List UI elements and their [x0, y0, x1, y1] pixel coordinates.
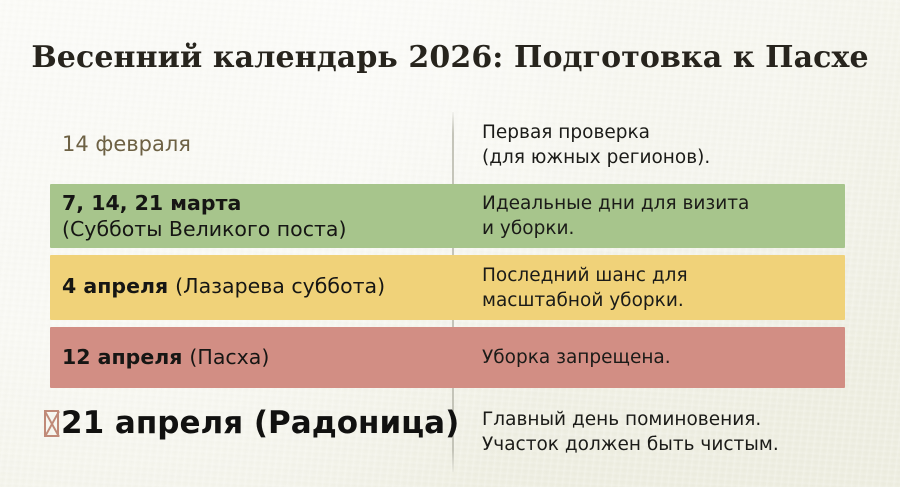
row-date-secondary: (Лазарева суббота)	[175, 274, 385, 298]
calendar-row: 14 февраля Первая проверка (для южных ре…	[0, 112, 900, 180]
row-note-cell: Главный день поминовения. Участок должен…	[482, 407, 882, 457]
calendar-row: 7, 14, 21 марта (Субботы Великого поста)…	[0, 184, 900, 248]
row-date-cell: 14 февраля	[62, 132, 448, 156]
row-date-cell: 21 апреля (Радоница)	[44, 405, 454, 441]
page-title: Весенний календарь 2026: Подготовка к Па…	[0, 40, 900, 75]
missing-glyph-icon	[44, 410, 59, 437]
calendar-row: 4 апреля(Лазарева суббота) Последний шан…	[0, 255, 900, 320]
row-date-primary: 14 февраля	[62, 132, 448, 156]
row-date-primary: 7, 14, 21 марта	[62, 190, 448, 216]
row-note-line: масштабной уборки.	[482, 288, 882, 313]
row-note-cell: Идеальные дни для визита и уборки.	[482, 191, 882, 241]
row-note-cell: Первая проверка (для южных регионов).	[482, 120, 882, 170]
row-date-cell: 4 апреля(Лазарева суббота)	[62, 273, 448, 299]
row-note-line: Последний шанс для	[482, 263, 882, 288]
row-date-cell: 12 апреля(Пасха)	[62, 344, 448, 370]
row-date-secondary: (Пасха)	[189, 345, 269, 369]
row-note-line: Уборка запрещена.	[482, 345, 882, 370]
row-note-cell: Последний шанс для масштабной уборки.	[482, 263, 882, 313]
row-date-cell: 7, 14, 21 марта (Субботы Великого поста)	[62, 190, 448, 242]
calendar-row: 12 апреля(Пасха) Уборка запрещена.	[0, 327, 900, 388]
row-note-line: Главный день поминовения.	[482, 407, 882, 432]
infographic-page: Весенний календарь 2026: Подготовка к Па…	[0, 0, 900, 487]
row-note-line: Идеальные дни для визита	[482, 191, 882, 216]
row-note-line: (для южных регионов).	[482, 145, 882, 170]
row-date-primary: 12 апреля	[62, 345, 182, 369]
row-note-cell: Уборка запрещена.	[482, 345, 882, 370]
row-note-line: Первая проверка	[482, 120, 882, 145]
calendar-row: 21 апреля (Радоница) Главный день помино…	[0, 395, 900, 475]
row-note-line: Участок должен быть чистым.	[482, 432, 882, 457]
row-date-primary: 21 апреля (Радоница)	[61, 405, 459, 441]
row-date-secondary: (Субботы Великого поста)	[62, 216, 448, 242]
row-note-line: и уборки.	[482, 216, 882, 241]
row-date-primary: 4 апреля	[62, 274, 168, 298]
